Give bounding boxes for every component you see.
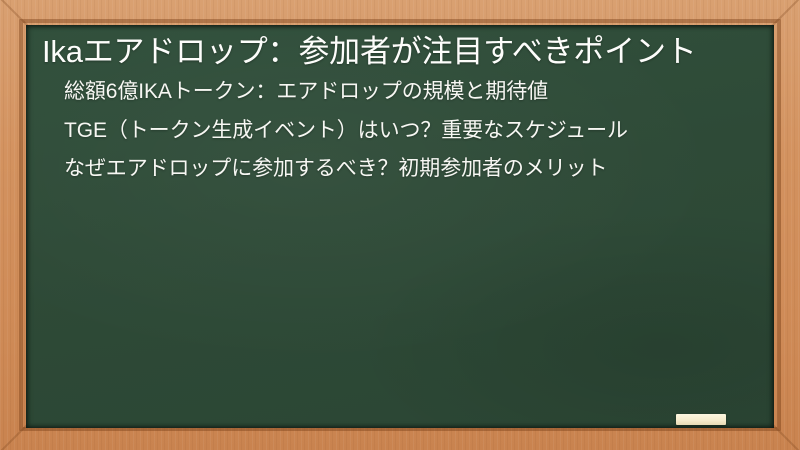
blackboard-frame: Ikaエアドロップ：参加者が注目すべきポイント 総額6億IKAトークン：エアドロ… [0,0,800,450]
frame-miter-top-right [770,0,800,28]
frame-miter-top-left [0,0,30,28]
list-item: TGE（トークン生成イベント）はいつ？重要なスケジュール [64,117,738,146]
chalkboard-surface: Ikaエアドロップ：参加者が注目すべきポイント 総額6億IKAトークン：エアドロ… [26,25,774,428]
list-item: 総額6億IKAトークン：エアドロップの規模と期待値 [64,78,738,107]
page-title: Ikaエアドロップ：参加者が注目すべきポイント [34,32,756,72]
topic-list: 総額6億IKAトークン：エアドロップの規模と期待値 TGE（トークン生成イベント… [34,78,756,184]
frame-miter-bottom-right [770,422,800,450]
list-item: なぜエアドロップに参加するべき？初期参加者のメリット [64,155,738,184]
board-content: Ikaエアドロップ：参加者が注目すべきポイント 総額6億IKAトークン：エアドロ… [26,25,774,184]
chalk-stick-icon [676,414,726,425]
